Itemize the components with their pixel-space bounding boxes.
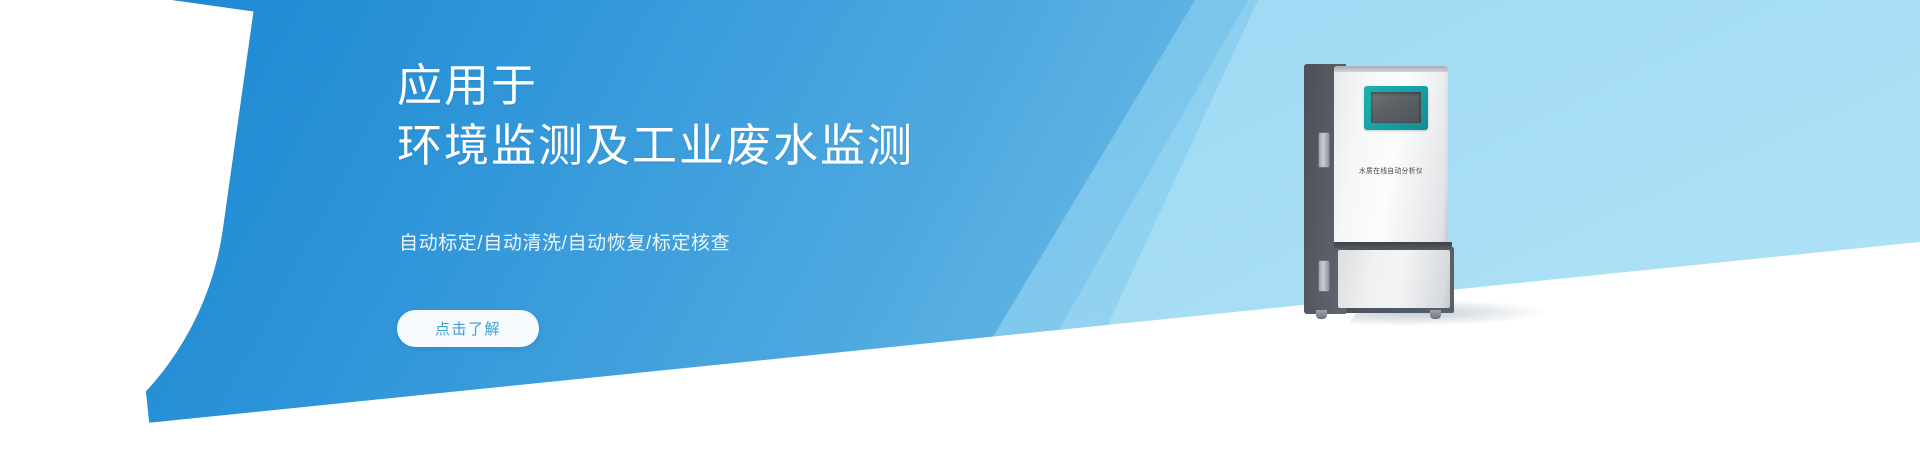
cabinet-top-edge: [1334, 66, 1448, 72]
product-image-water-quality-analyzer: 水质在线自动分析仪: [1304, 64, 1480, 326]
cabinet-lower-handle: [1318, 260, 1330, 292]
cabinet-lower-drawer: [1338, 250, 1450, 308]
display-bezel: [1364, 86, 1428, 130]
cabinet-caster-right: [1430, 310, 1441, 319]
learn-more-button[interactable]: 点击了解: [397, 310, 539, 347]
hero-banner: 应用于 环境监测及工业废水监测 自动标定/自动清洗/自动恢复/标定核查 点击了解…: [0, 0, 1920, 450]
cabinet-caster-left: [1316, 310, 1327, 319]
headline-line-2: 环境监测及工业废水监测: [397, 116, 914, 176]
headline-line-1: 应用于: [397, 60, 538, 111]
banner-content: 应用于 环境监测及工业废水监测 自动标定/自动清洗/自动恢复/标定核查 点击了解: [397, 0, 1157, 450]
banner-subtitle: 自动标定/自动清洗/自动恢复/标定核查: [399, 228, 730, 255]
product-panel-label: 水质在线自动分析仪: [1336, 166, 1445, 176]
banner-headline: 应用于 环境监测及工业废水监测: [397, 56, 914, 176]
display-screen: [1371, 92, 1421, 123]
cabinet-divider: [1334, 242, 1452, 249]
cabinet-upper-handle: [1318, 132, 1330, 168]
